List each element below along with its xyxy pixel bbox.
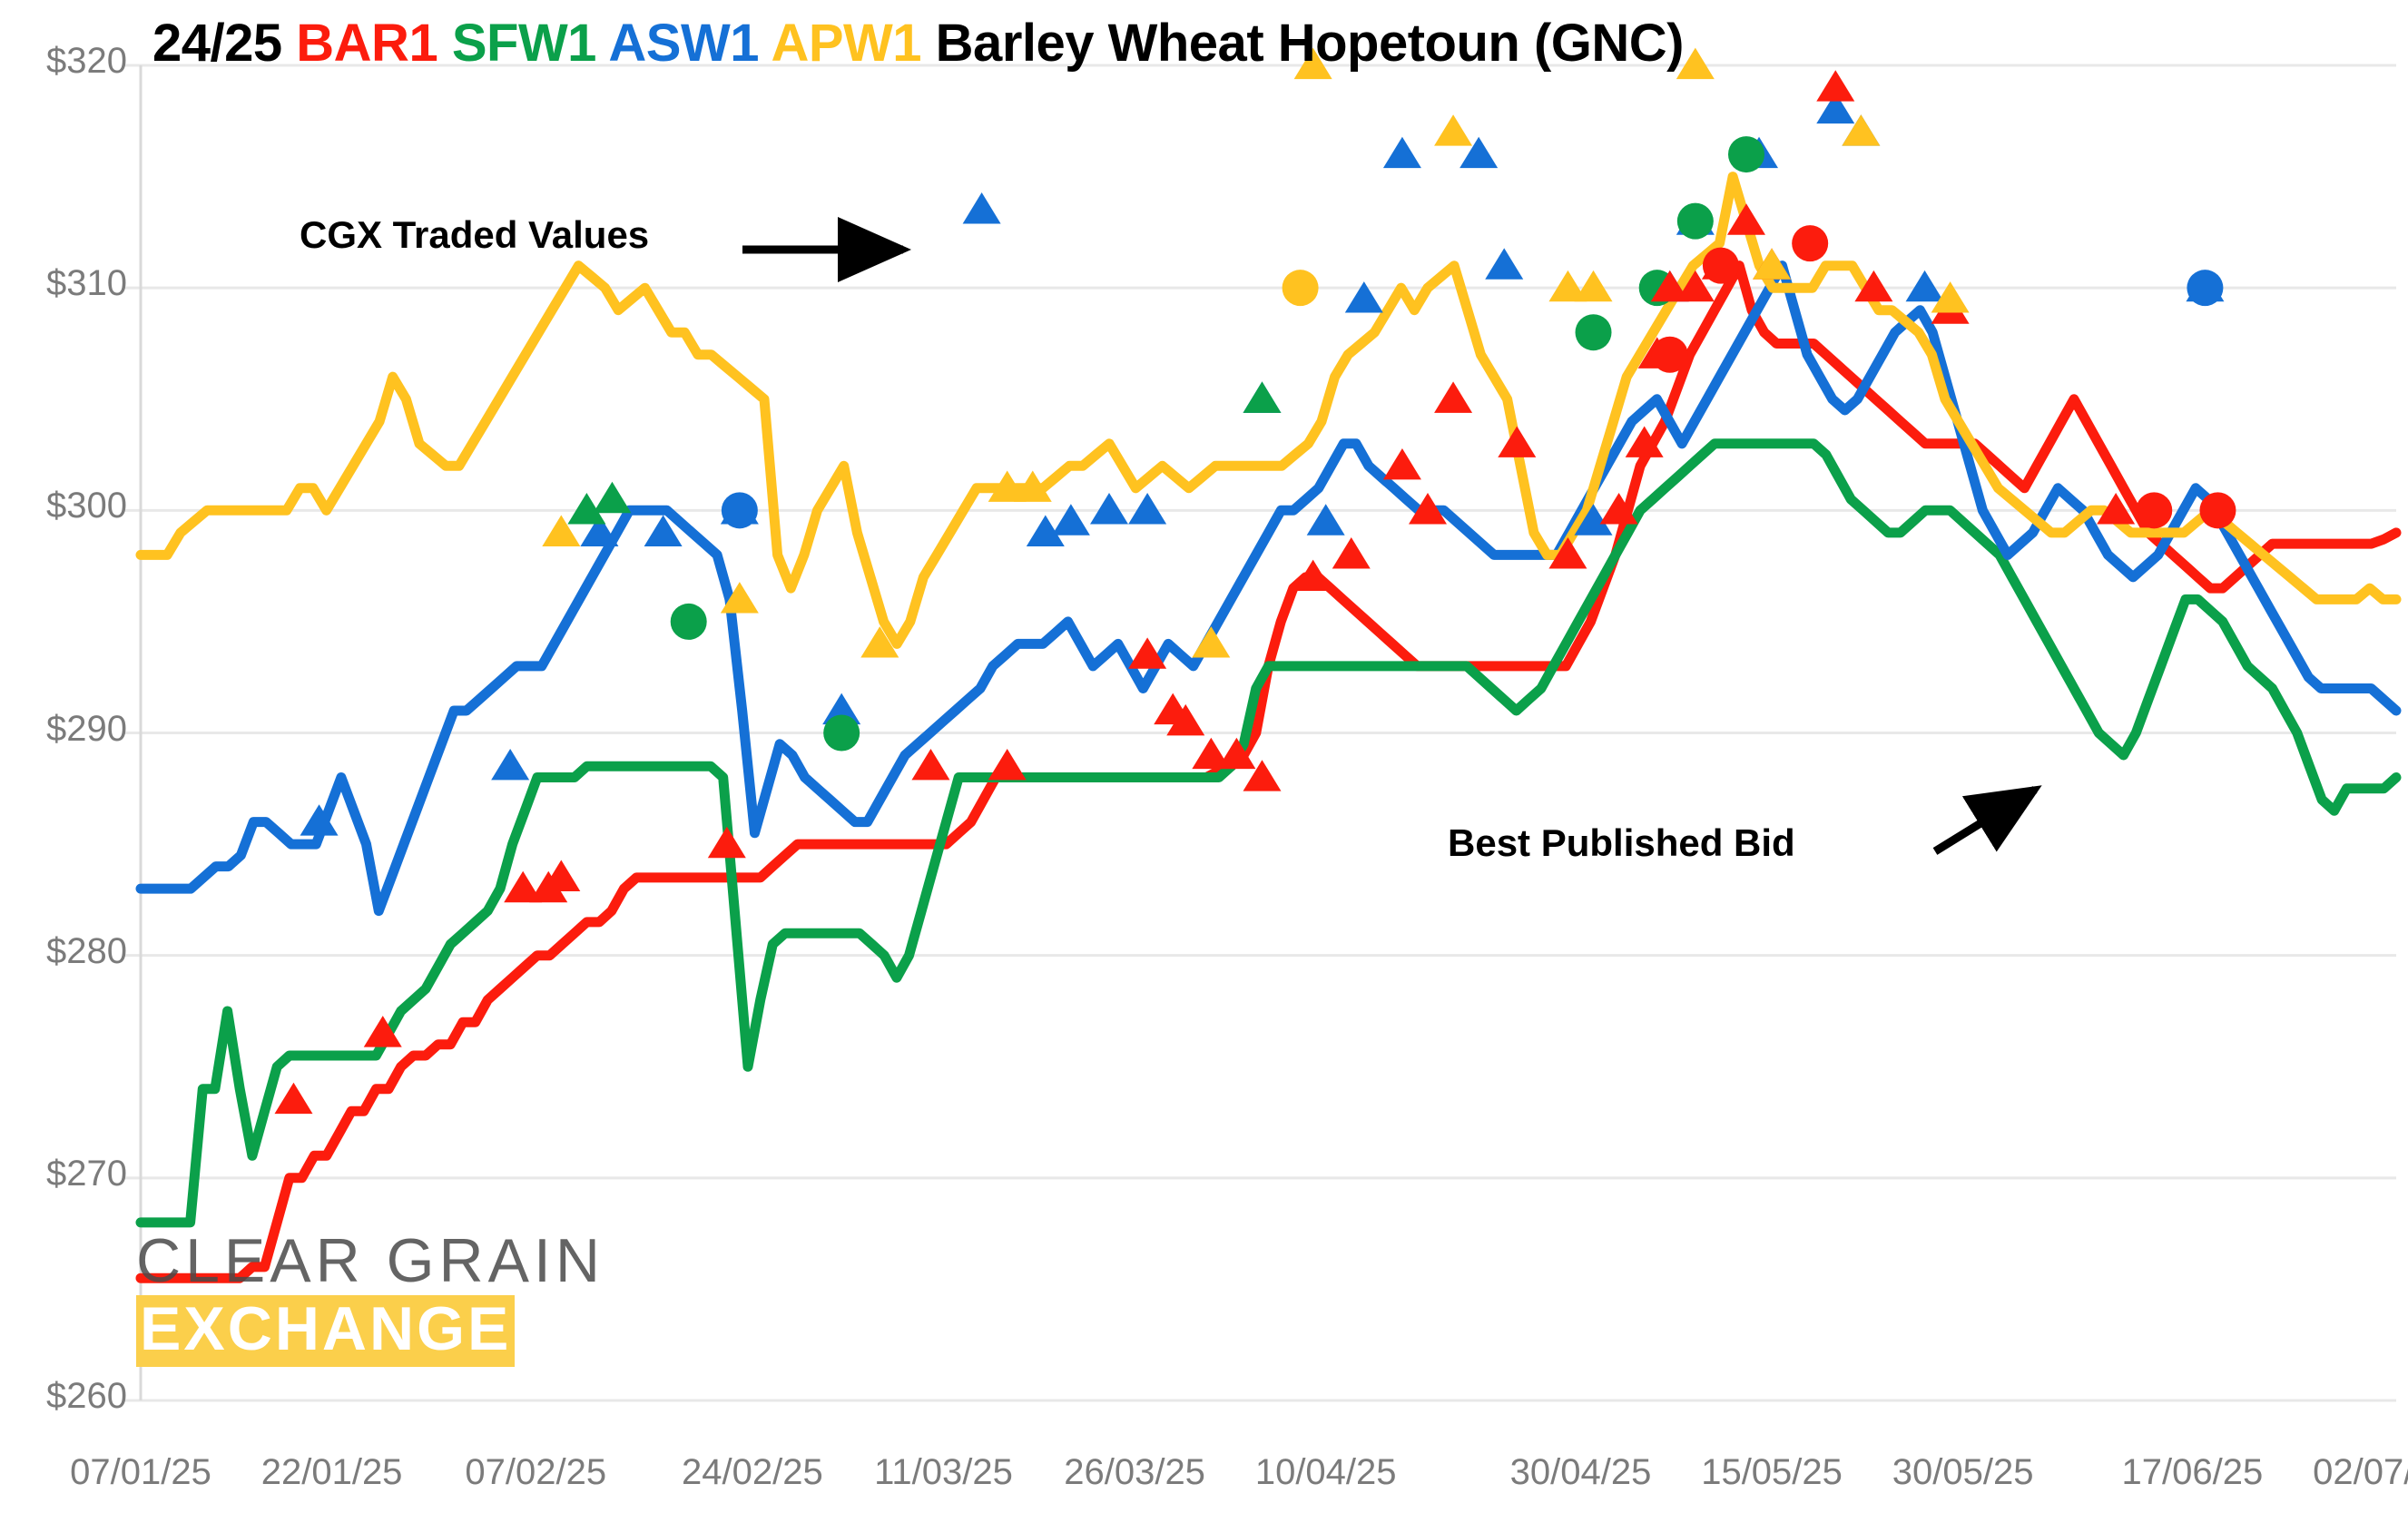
title-legend-apw1: APW1: [771, 14, 921, 73]
marker-triangle-bar1: [1727, 203, 1765, 234]
bpb-arrow: [1935, 790, 2035, 851]
annotation-best-published-bid: Best Published Bid: [1448, 821, 1795, 865]
x-tick-label-24-02-25: 24/02/25: [682, 1452, 823, 1493]
marker-triangle-bar1: [1383, 448, 1421, 479]
x-tick-label-22-01-25: 22/01/25: [261, 1452, 403, 1493]
marker-triangle-asw1: [491, 749, 529, 780]
marker-circle-bar1: [1652, 337, 1688, 373]
series-line-asw1: [141, 266, 2396, 911]
x-tick-label-30-05-25: 30/05/25: [1892, 1452, 2034, 1493]
marker-triangle-bar1: [1294, 560, 1332, 591]
title-season: 24/25: [152, 14, 282, 73]
watermark-line-clear-grain: CLEAR GRAIN: [136, 1230, 644, 1292]
marker-triangle-asw1: [1052, 504, 1090, 535]
x-tick-label-07-02-25: 07/02/25: [465, 1452, 606, 1493]
marker-circle-bar1: [1703, 248, 1739, 284]
marker-triangle-asw1: [1307, 504, 1345, 535]
marker-triangle-bar1: [1498, 426, 1536, 457]
marker-circle-sfw1: [1728, 136, 1764, 172]
y-tick-label-290: $290: [0, 709, 127, 750]
marker-circle-apw1: [1283, 270, 1319, 306]
marker-triangle-asw1: [1128, 493, 1166, 524]
watermark-line-exchange: EXCHANGE: [136, 1295, 515, 1367]
marker-triangle-asw1: [1485, 248, 1523, 279]
x-tick-label-02-07-25: 02/07/25: [2313, 1452, 2408, 1493]
page-title: 24/25 BAR1 SFW1 ASW1 APW1 Barley Wheat H…: [152, 13, 1684, 74]
marker-triangle-bar1: [1332, 537, 1371, 568]
title-legend-bar1: BAR1: [296, 14, 437, 73]
y-tick-label-320: $320: [0, 41, 127, 82]
marker-triangle-bar1: [708, 827, 746, 858]
annotation-cgx-traded-values: CGX Traded Values: [300, 213, 649, 257]
marker-triangle-asw1: [1383, 137, 1421, 168]
y-tick-label-310: $310: [0, 263, 127, 304]
y-tick-label-280: $280: [0, 931, 127, 972]
title-legend-asw1: ASW1: [608, 14, 759, 73]
marker-triangle-asw1: [1906, 270, 1944, 301]
marker-triangle-bar1: [911, 749, 949, 780]
watermark-logo: CLEAR GRAIN EXCHANGE: [136, 1230, 644, 1367]
y-tick-label-270: $270: [0, 1154, 127, 1194]
marker-circle-bar1: [2199, 492, 2236, 528]
marker-circle-sfw1: [1677, 203, 1714, 240]
marker-triangle-sfw1: [1243, 381, 1281, 412]
marker-triangle-apw1: [1434, 114, 1472, 145]
marker-circle-sfw1: [1576, 314, 1612, 350]
marker-circle-asw1: [2187, 270, 2223, 306]
x-tick-label-10-04-25: 10/04/25: [1255, 1452, 1397, 1493]
marker-triangle-asw1: [1090, 493, 1128, 524]
marker-triangle-bar1: [274, 1083, 312, 1114]
marker-triangle-asw1: [963, 192, 1001, 223]
x-tick-label-30-04-25: 30/04/25: [1510, 1452, 1652, 1493]
series-lines: [141, 177, 2396, 1279]
marker-triangle-apw1: [1575, 270, 1613, 301]
y-tick-label-300: $300: [0, 486, 127, 526]
title-description: Barley Wheat Hopetoun (GNC): [936, 14, 1684, 73]
x-tick-label-07-01-25: 07/01/25: [70, 1452, 211, 1493]
series-line-sfw1: [141, 444, 2396, 1223]
chart-root: 24/25 BAR1 SFW1 ASW1 APW1 Barley Wheat H…: [0, 0, 2408, 1523]
x-tick-label-26-03-25: 26/03/25: [1064, 1452, 1205, 1493]
marker-triangle-bar1: [1434, 381, 1472, 412]
y-tick-label-260: $260: [0, 1376, 127, 1417]
traded-value-markers: [274, 48, 2236, 1114]
x-tick-label-15-05-25: 15/05/25: [1701, 1452, 1843, 1493]
marker-circle-bar1: [2136, 492, 2172, 528]
x-tick-label-11-03-25: 11/03/25: [874, 1452, 1013, 1493]
marker-circle-sfw1: [671, 604, 707, 640]
marker-circle-bar1: [1792, 225, 1828, 261]
marker-triangle-asw1: [1345, 281, 1383, 312]
marker-triangle-bar1: [1816, 70, 1854, 101]
marker-circle-asw1: [722, 492, 758, 528]
marker-triangle-apw1: [1192, 626, 1230, 657]
marker-triangle-sfw1: [593, 482, 631, 513]
marker-triangle-bar1: [988, 749, 1027, 780]
x-tick-label-17-06-25: 17/06/25: [2122, 1452, 2264, 1493]
marker-circle-sfw1: [823, 715, 860, 752]
title-legend-sfw1: SFW1: [452, 14, 596, 73]
